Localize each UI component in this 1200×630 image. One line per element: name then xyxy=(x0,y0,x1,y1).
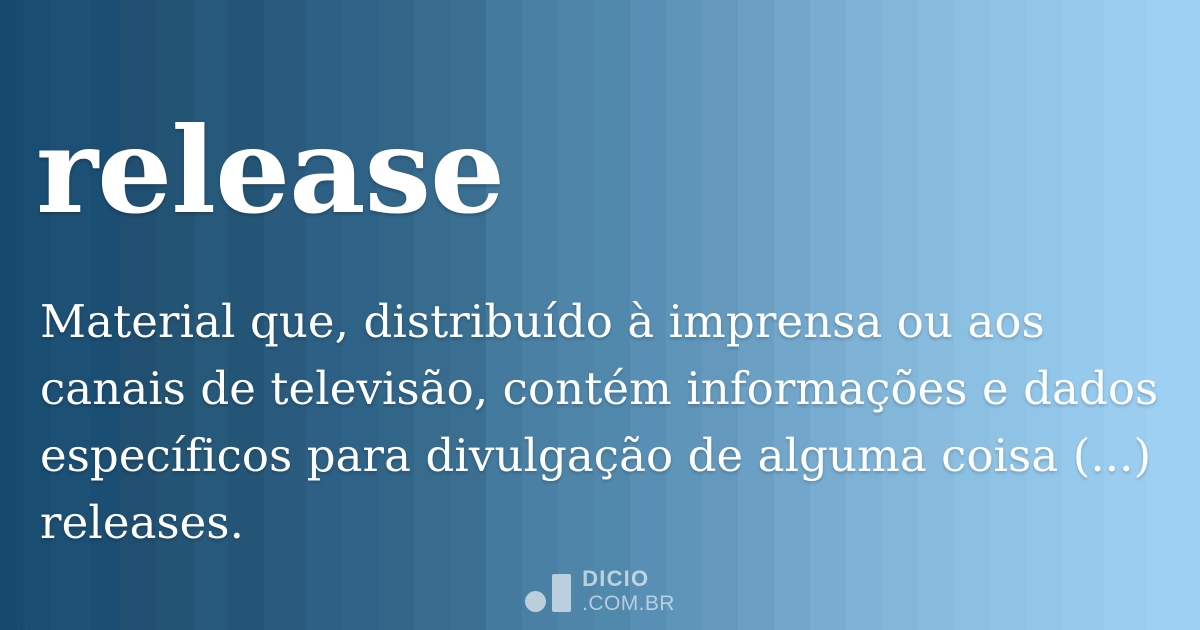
logo-mark-icon xyxy=(525,574,571,614)
logo-circle-icon xyxy=(525,591,546,612)
definition-card: release Material que, distribuído à impr… xyxy=(0,0,1200,630)
dicio-logo[interactable]: DICIO .COM.BR xyxy=(0,568,1200,614)
logo-bar-icon xyxy=(552,574,571,612)
logo-tld-text: .COM.BR xyxy=(582,593,675,614)
logo-wordmark: DICIO .COM.BR xyxy=(582,568,675,614)
background-texture xyxy=(18,0,34,630)
logo-name-text: DICIO xyxy=(582,568,675,590)
definition-text: Material que, distribuído à imprensa ou … xyxy=(40,288,1165,556)
headword-title: release xyxy=(36,103,504,239)
